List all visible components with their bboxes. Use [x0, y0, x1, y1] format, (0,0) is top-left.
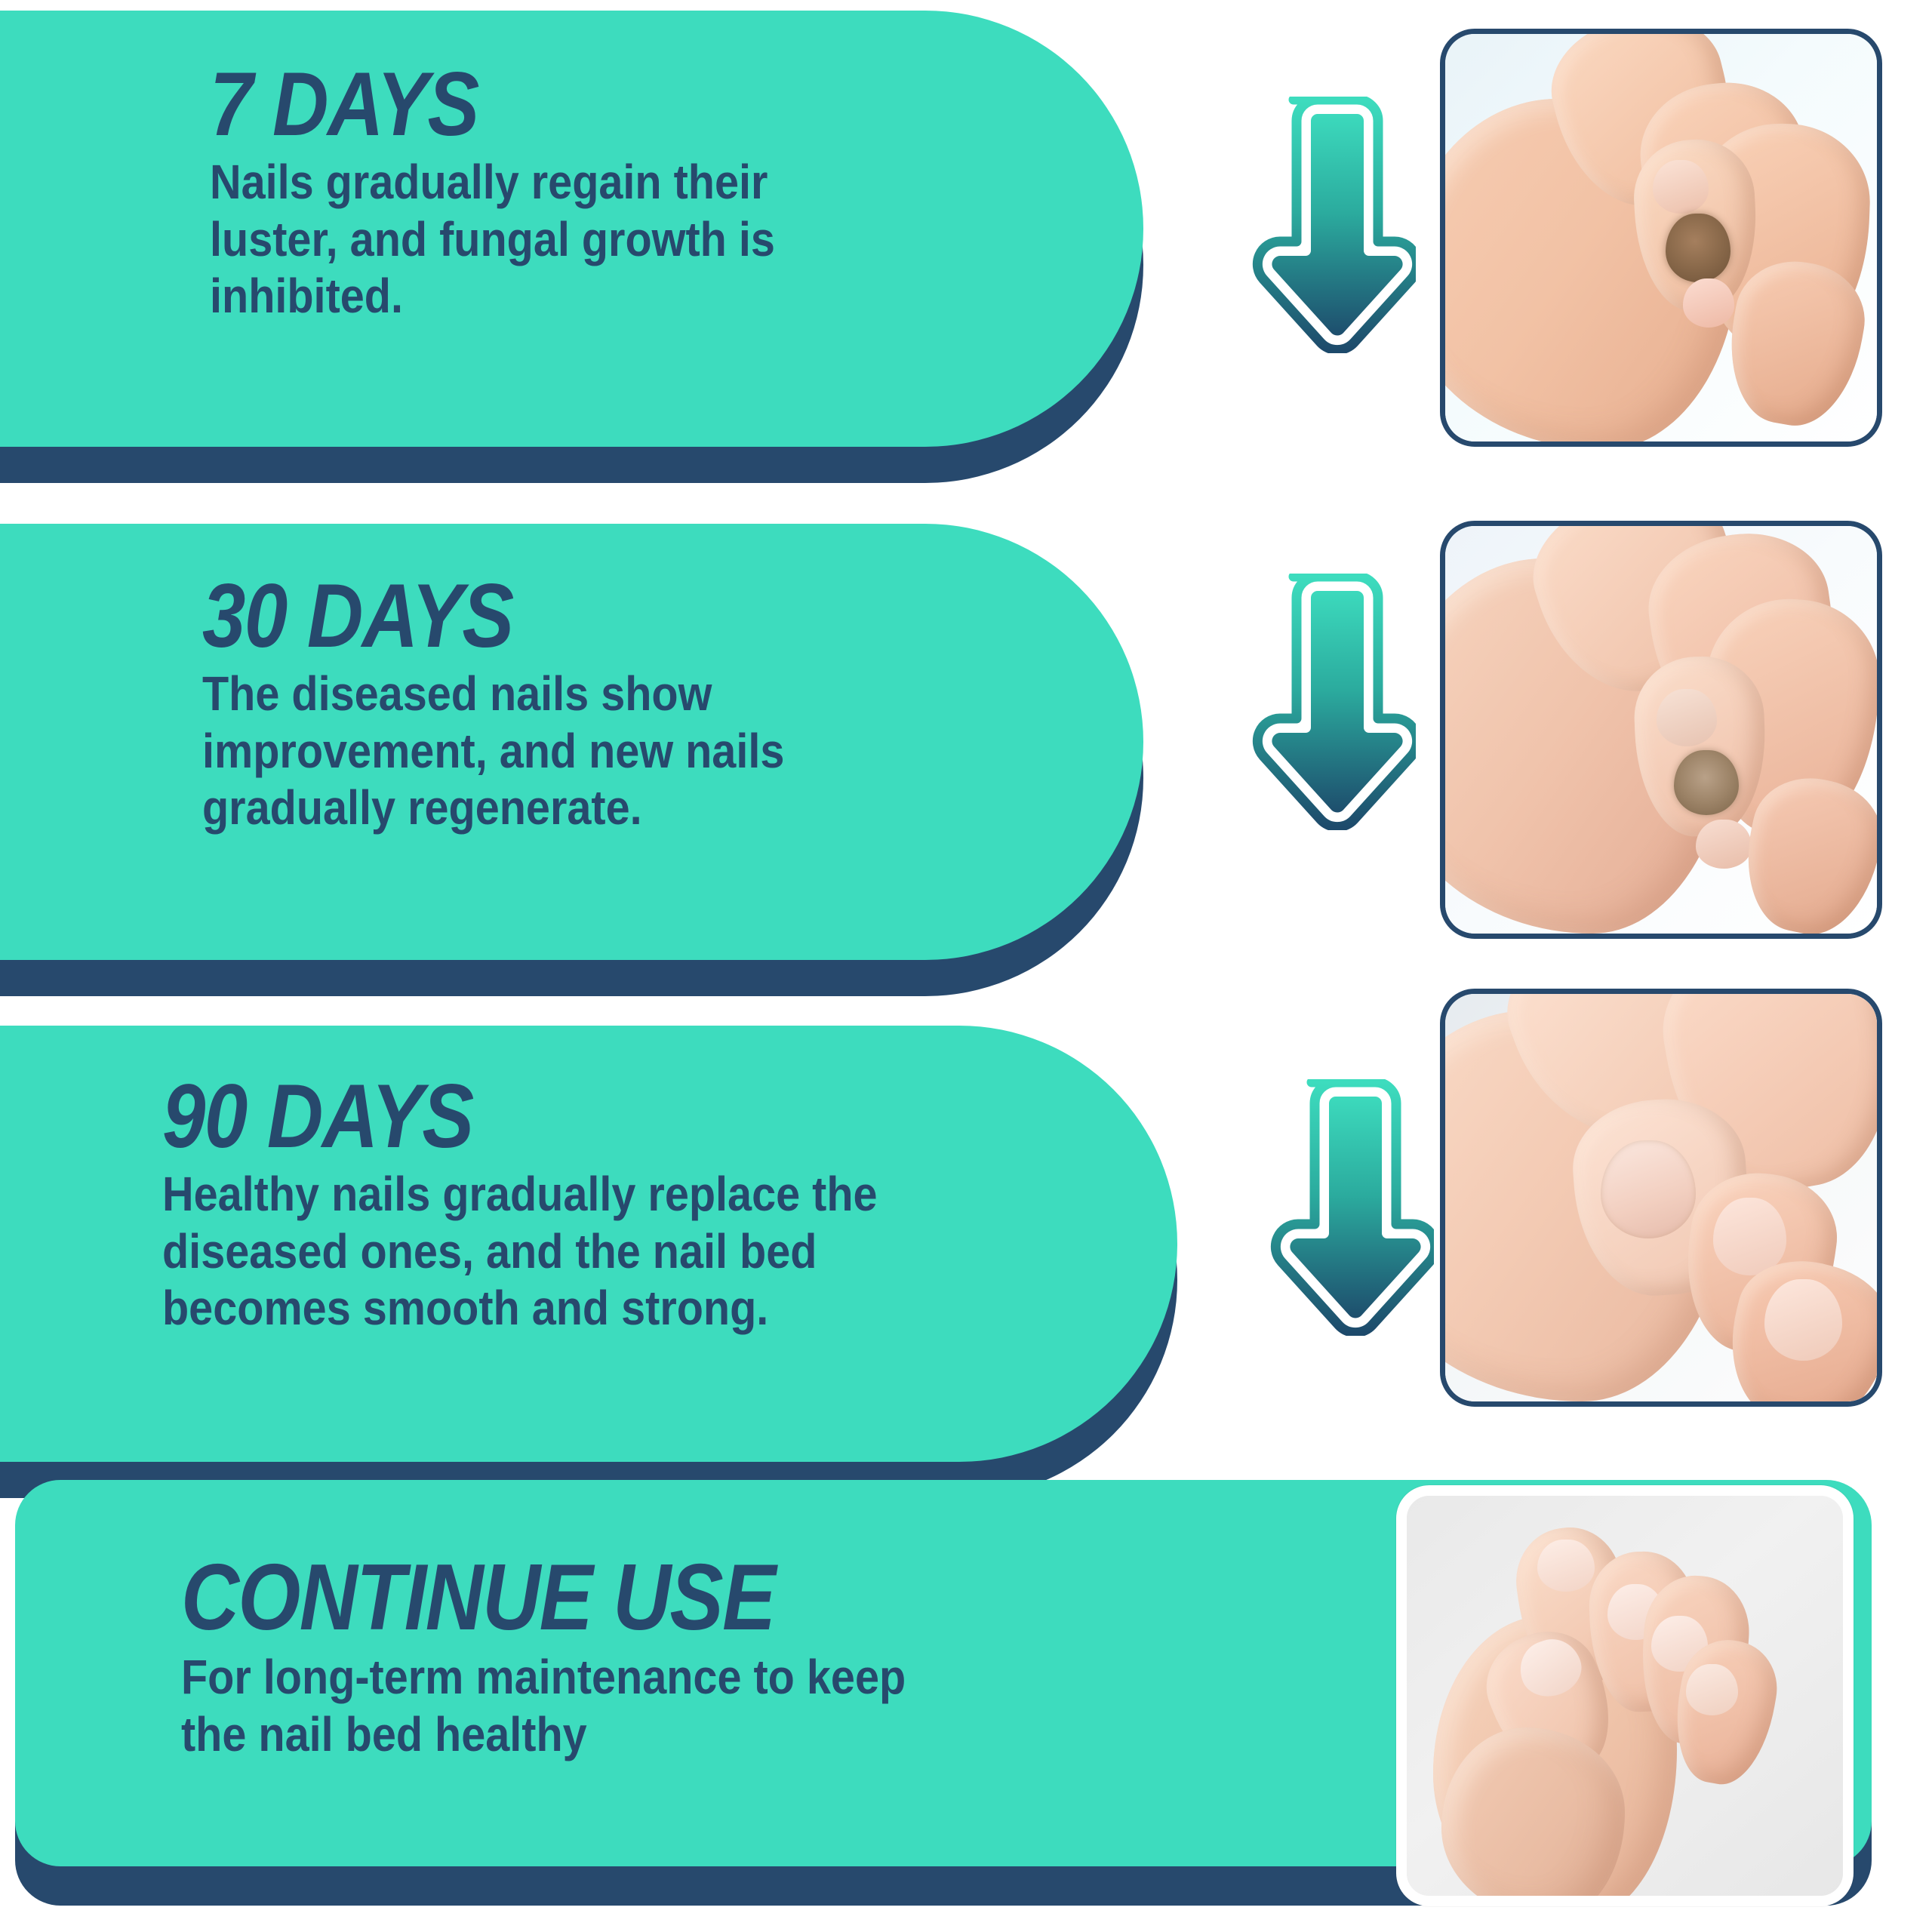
down-arrow-icon — [1235, 97, 1416, 353]
down-arrow-icon — [1235, 574, 1416, 830]
step-description: For long-term maintenance to keep the na… — [181, 1649, 983, 1763]
step-title: 30 DAYS — [202, 571, 973, 661]
step-card-7-days: 7 DAYS Nails gradually regain their lust… — [0, 8, 1223, 506]
card-surface: 90 DAYS Healthy nails gradually replace … — [0, 1026, 1177, 1462]
photo-90-days — [1440, 989, 1882, 1407]
nail-treatment-timeline-infographic: 7 DAYS Nails gradually regain their lust… — [0, 0, 1932, 1932]
step-title: CONTINUE USE — [181, 1551, 1180, 1644]
step-description: The diseased nails show improvement, and… — [202, 666, 841, 837]
step-title: 90 DAYS — [162, 1071, 996, 1161]
photo-7-days — [1440, 29, 1882, 447]
step-description: Healthy nails gradually replace the dise… — [162, 1166, 937, 1337]
step-description: Nails gradually regain their luster, and… — [210, 154, 814, 325]
photo-30-days — [1440, 521, 1882, 939]
step-card-30-days: 30 DAYS The diseased nails show improvem… — [0, 521, 1223, 1019]
step-card-90-days: 90 DAYS Healthy nails gradually replace … — [0, 1023, 1253, 1521]
down-arrow-icon — [1253, 1079, 1434, 1336]
step-title: 7 DAYS — [210, 59, 974, 149]
card-surface: 30 DAYS The diseased nails show improvem… — [0, 524, 1143, 960]
photo-continue-use — [1396, 1485, 1854, 1906]
card-surface: 7 DAYS Nails gradually regain their lust… — [0, 11, 1143, 447]
